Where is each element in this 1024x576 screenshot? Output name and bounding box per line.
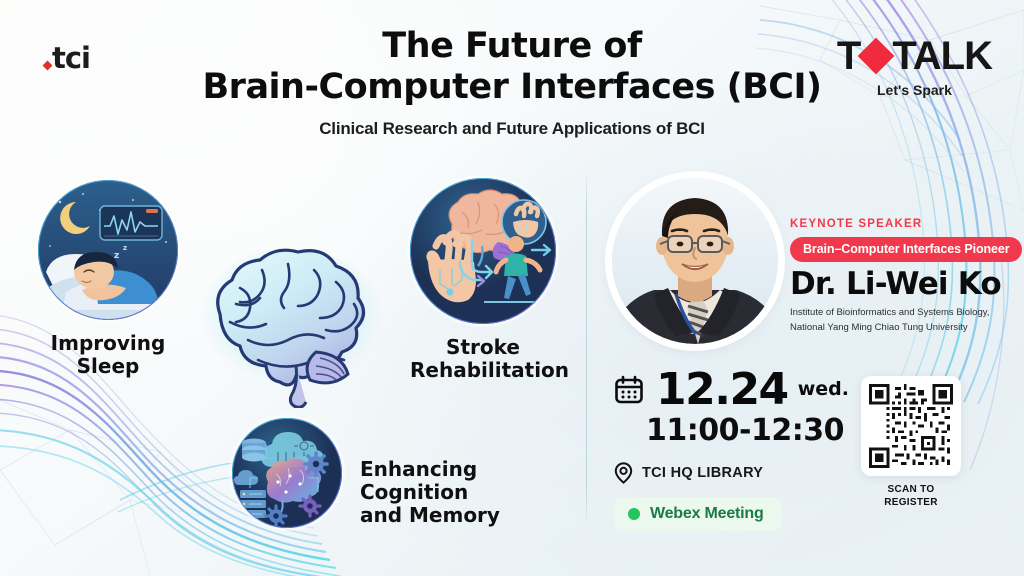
status-dot-icon [628,508,640,520]
topic-label-cognition-l2: and Memory [360,503,500,527]
topic-label-sleep-l1: Improving [51,331,166,355]
topic-label-stroke-l1: Stroke [446,335,520,359]
event-location-row: TCI HQ LIBRARY [614,462,849,484]
event-details: 12.24 wed. 11:00-12:30 TCI HQ LIBRARY We… [614,368,849,531]
brain-hand-walking-icon [410,178,556,324]
topic-label-sleep: Improving Sleep [38,332,178,378]
topic-enhancing-cognition: Enhancing Cognition and Memory [232,418,342,528]
title-line-1: The Future of [0,26,1024,67]
event-location: TCI HQ LIBRARY [642,465,763,481]
keynote-speaker-label: KEYNOTE SPEAKER [790,218,1012,230]
affiliation-line-1: Institute of Bioinformatics and Systems … [790,307,989,318]
location-pin-icon [614,462,633,484]
calendar-icon [614,375,644,405]
platform-name: Webex Meeting [650,505,764,523]
qr-registration-block: SCAN TO REGISTER [861,376,961,509]
section-divider [586,168,587,530]
event-day-of-week: wed. [798,378,849,403]
poster-subtitle: Clinical Research and Future Application… [0,119,1024,139]
event-time: 11:00-12:30 [646,416,849,446]
topic-stroke-rehabilitation: Stroke Rehabilitation [410,178,556,382]
sleeping-person-eeg-icon: z z [38,180,178,320]
qr-caption-line-1: SCAN TO [888,484,935,495]
cloud-brain-gears-icon [232,418,342,528]
svg-text:z: z [114,251,119,261]
speaker-name: Dr. Li-Wei Ko [790,268,1012,301]
topic-label-stroke-l2: Rehabilitation [410,358,569,382]
speaker-affiliation: Institute of Bioinformatics and Systems … [790,306,1012,335]
speaker-info: KEYNOTE SPEAKER Brain–Computer Interface… [790,218,1012,335]
platform-badge: Webex Meeting [614,497,782,531]
central-brain-illustration [196,248,386,408]
topic-label-sleep-l2: Sleep [77,354,140,378]
topic-label-cognition-l1: Enhancing Cognition [360,457,477,504]
title-line-2: Brain-Computer Interfaces (BCI) [0,67,1024,108]
affiliation-line-2: National Yang Ming Chiao Tung University [790,322,968,333]
speaker-badge: Brain–Computer Interfaces Pioneer [790,237,1022,262]
topic-improving-sleep: z z Improving Sleep [38,180,178,378]
topic-label-stroke: Stroke Rehabilitation [410,336,556,382]
speaker-portrait [612,178,778,344]
topic-label-cognition: Enhancing Cognition and Memory [360,458,580,527]
qr-caption-line-2: REGISTER [884,497,938,508]
poster-header: The Future of Brain-Computer Interfaces … [0,26,1024,139]
svg-text:z: z [123,244,127,252]
event-date: 12.24 [656,368,788,412]
event-date-row: 12.24 wed. [614,368,849,412]
qr-caption: SCAN TO REGISTER [861,484,961,509]
event-poster: tci T TALK Let's Spark The Future of Bra… [0,0,1024,576]
qr-code[interactable] [861,376,961,476]
